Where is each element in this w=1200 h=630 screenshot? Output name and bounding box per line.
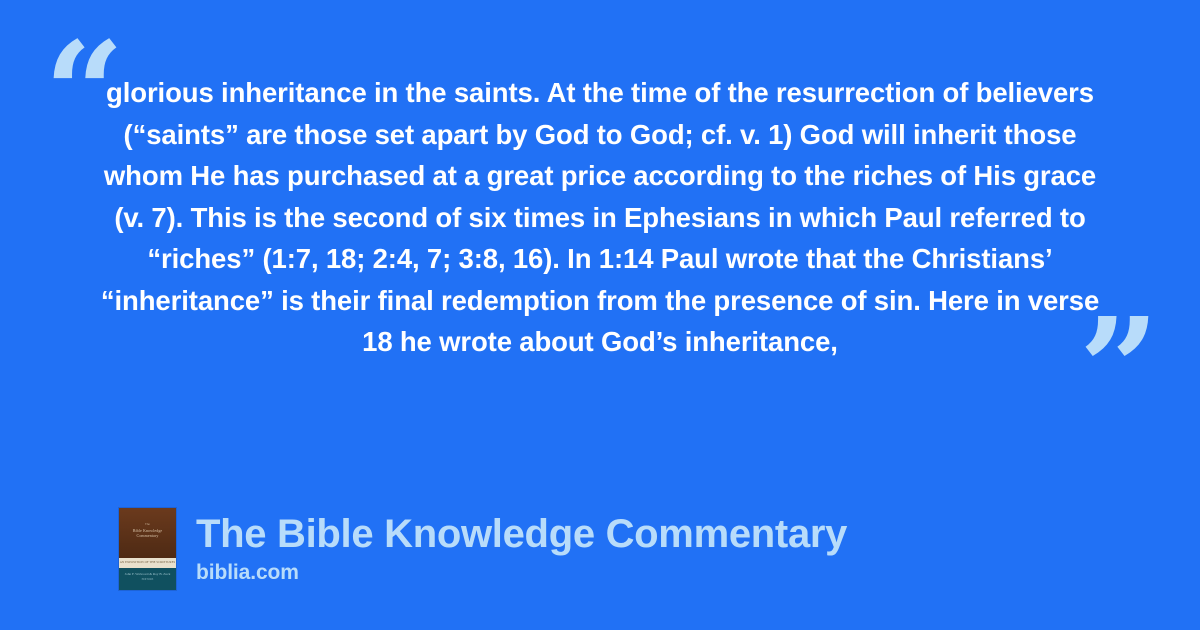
book-cover-title: The Bible Knowledge Commentary: [123, 522, 172, 538]
book-cover-thumbnail: The Bible Knowledge Commentary AN EXPOSI…: [119, 508, 176, 590]
book-cover-title-main: Bible Knowledge Commentary: [133, 528, 163, 538]
quote-text: glorious inheritance in the saints. At t…: [100, 72, 1100, 363]
site-url[interactable]: biblia.com: [196, 560, 847, 585]
footer-attribution: The Bible Knowledge Commentary AN EXPOSI…: [119, 508, 847, 590]
footer-text-group: The Bible Knowledge Commentary biblia.co…: [196, 508, 847, 585]
quote-card: “ ” glorious inheritance in the saints. …: [0, 0, 1200, 630]
book-cover-title-the: The: [123, 522, 172, 527]
book-cover-subtitle: AN EXPOSITION OF THE SCRIPTURES: [119, 560, 176, 565]
book-cover-authors: John F. Walvoord & Roy B. Zuck EDITORS: [119, 572, 176, 582]
book-cover-authors-role: EDITORS: [119, 577, 176, 582]
book-cover-authors-names: John F. Walvoord & Roy B. Zuck: [125, 572, 171, 576]
quote-block: glorious inheritance in the saints. At t…: [100, 72, 1100, 363]
book-title: The Bible Knowledge Commentary: [196, 511, 847, 557]
